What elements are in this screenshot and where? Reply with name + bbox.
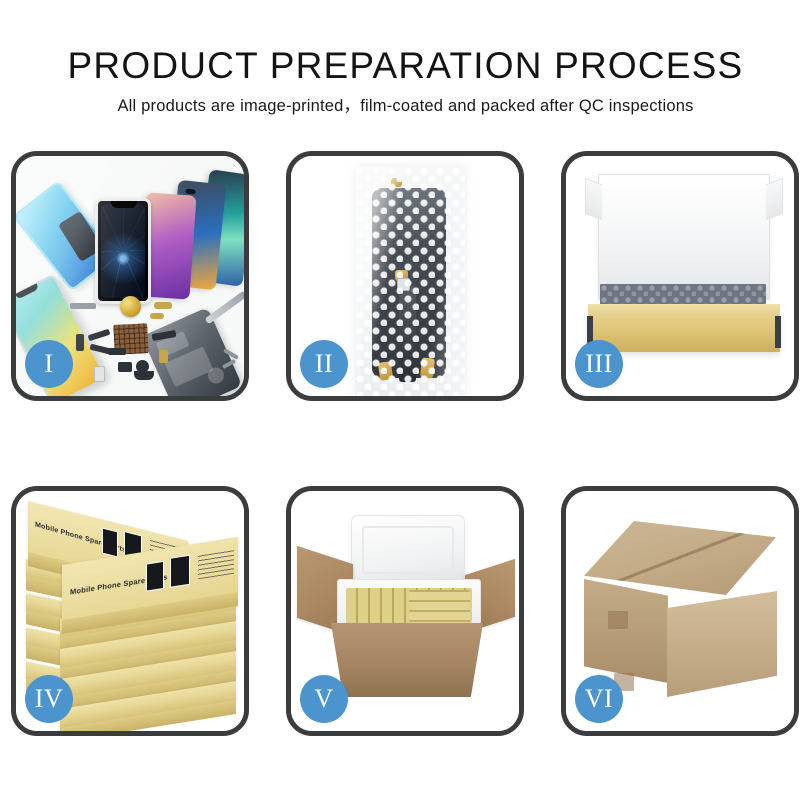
- carton-top-seam: [584, 521, 776, 595]
- step-badge-3: III: [575, 340, 623, 388]
- box-screen-print-c: [146, 561, 164, 592]
- box-screen-print-d: [170, 555, 190, 588]
- step-badge-5: V: [300, 675, 348, 723]
- carton-right-face: [667, 591, 777, 697]
- gold-box-base: [588, 314, 780, 352]
- product-preparation-page: PRODUCT PREPARATION PROCESS All products…: [0, 0, 811, 811]
- white-box-lid: [598, 174, 770, 300]
- carton-top-face: [584, 521, 776, 595]
- carton-left-face: [584, 579, 668, 683]
- part-camera-module: [118, 362, 132, 372]
- tweezers-icon: [205, 291, 244, 325]
- box-screen-print-a: [102, 528, 118, 558]
- part-gold-flex: [150, 313, 164, 319]
- process-step-grid: I II: [11, 151, 800, 751]
- step-badge-2: II: [300, 340, 348, 388]
- carton-tape-upper: [608, 611, 628, 629]
- part-charging-port: [108, 348, 126, 355]
- part-button-flex: [76, 334, 84, 351]
- part-speaker-mesh: [70, 303, 96, 309]
- process-step-panel-1[interactable]: I: [11, 151, 249, 401]
- bag-plastic-sheen: [355, 166, 465, 396]
- step-badge-1: I: [25, 340, 73, 388]
- part-sim-tray: [94, 366, 105, 382]
- page-title: PRODUCT PREPARATION PROCESS: [0, 44, 811, 88]
- tempered-glass-screen-icon: [95, 198, 151, 304]
- foam-box-lid: [351, 515, 465, 587]
- part-battery-connector: [159, 350, 168, 363]
- part-power-cable: [88, 329, 111, 342]
- page-header: PRODUCT PREPARATION PROCESS All products…: [0, 0, 811, 117]
- vibration-motor-icon: [120, 296, 141, 317]
- page-subtitle: All products are image-printed，film-coat…: [0, 95, 811, 117]
- step-badge-6: VI: [575, 675, 623, 723]
- bubble-wrap-bag: [355, 166, 465, 396]
- step-badge-4: IV: [25, 675, 73, 723]
- part-gold-connector: [154, 302, 172, 309]
- box-end-right: [775, 316, 781, 348]
- carton-front-wall: [331, 623, 483, 697]
- process-step-panel-2[interactable]: II: [286, 151, 524, 401]
- process-step-panel-6[interactable]: VI: [561, 486, 799, 736]
- process-step-panel-5[interactable]: V: [286, 486, 524, 736]
- process-step-panel-4[interactable]: Mobile Phone Spare Parts Mobile Phone Sp…: [11, 486, 249, 736]
- process-step-panel-3[interactable]: III: [561, 151, 799, 401]
- part-loudspeaker: [134, 371, 154, 380]
